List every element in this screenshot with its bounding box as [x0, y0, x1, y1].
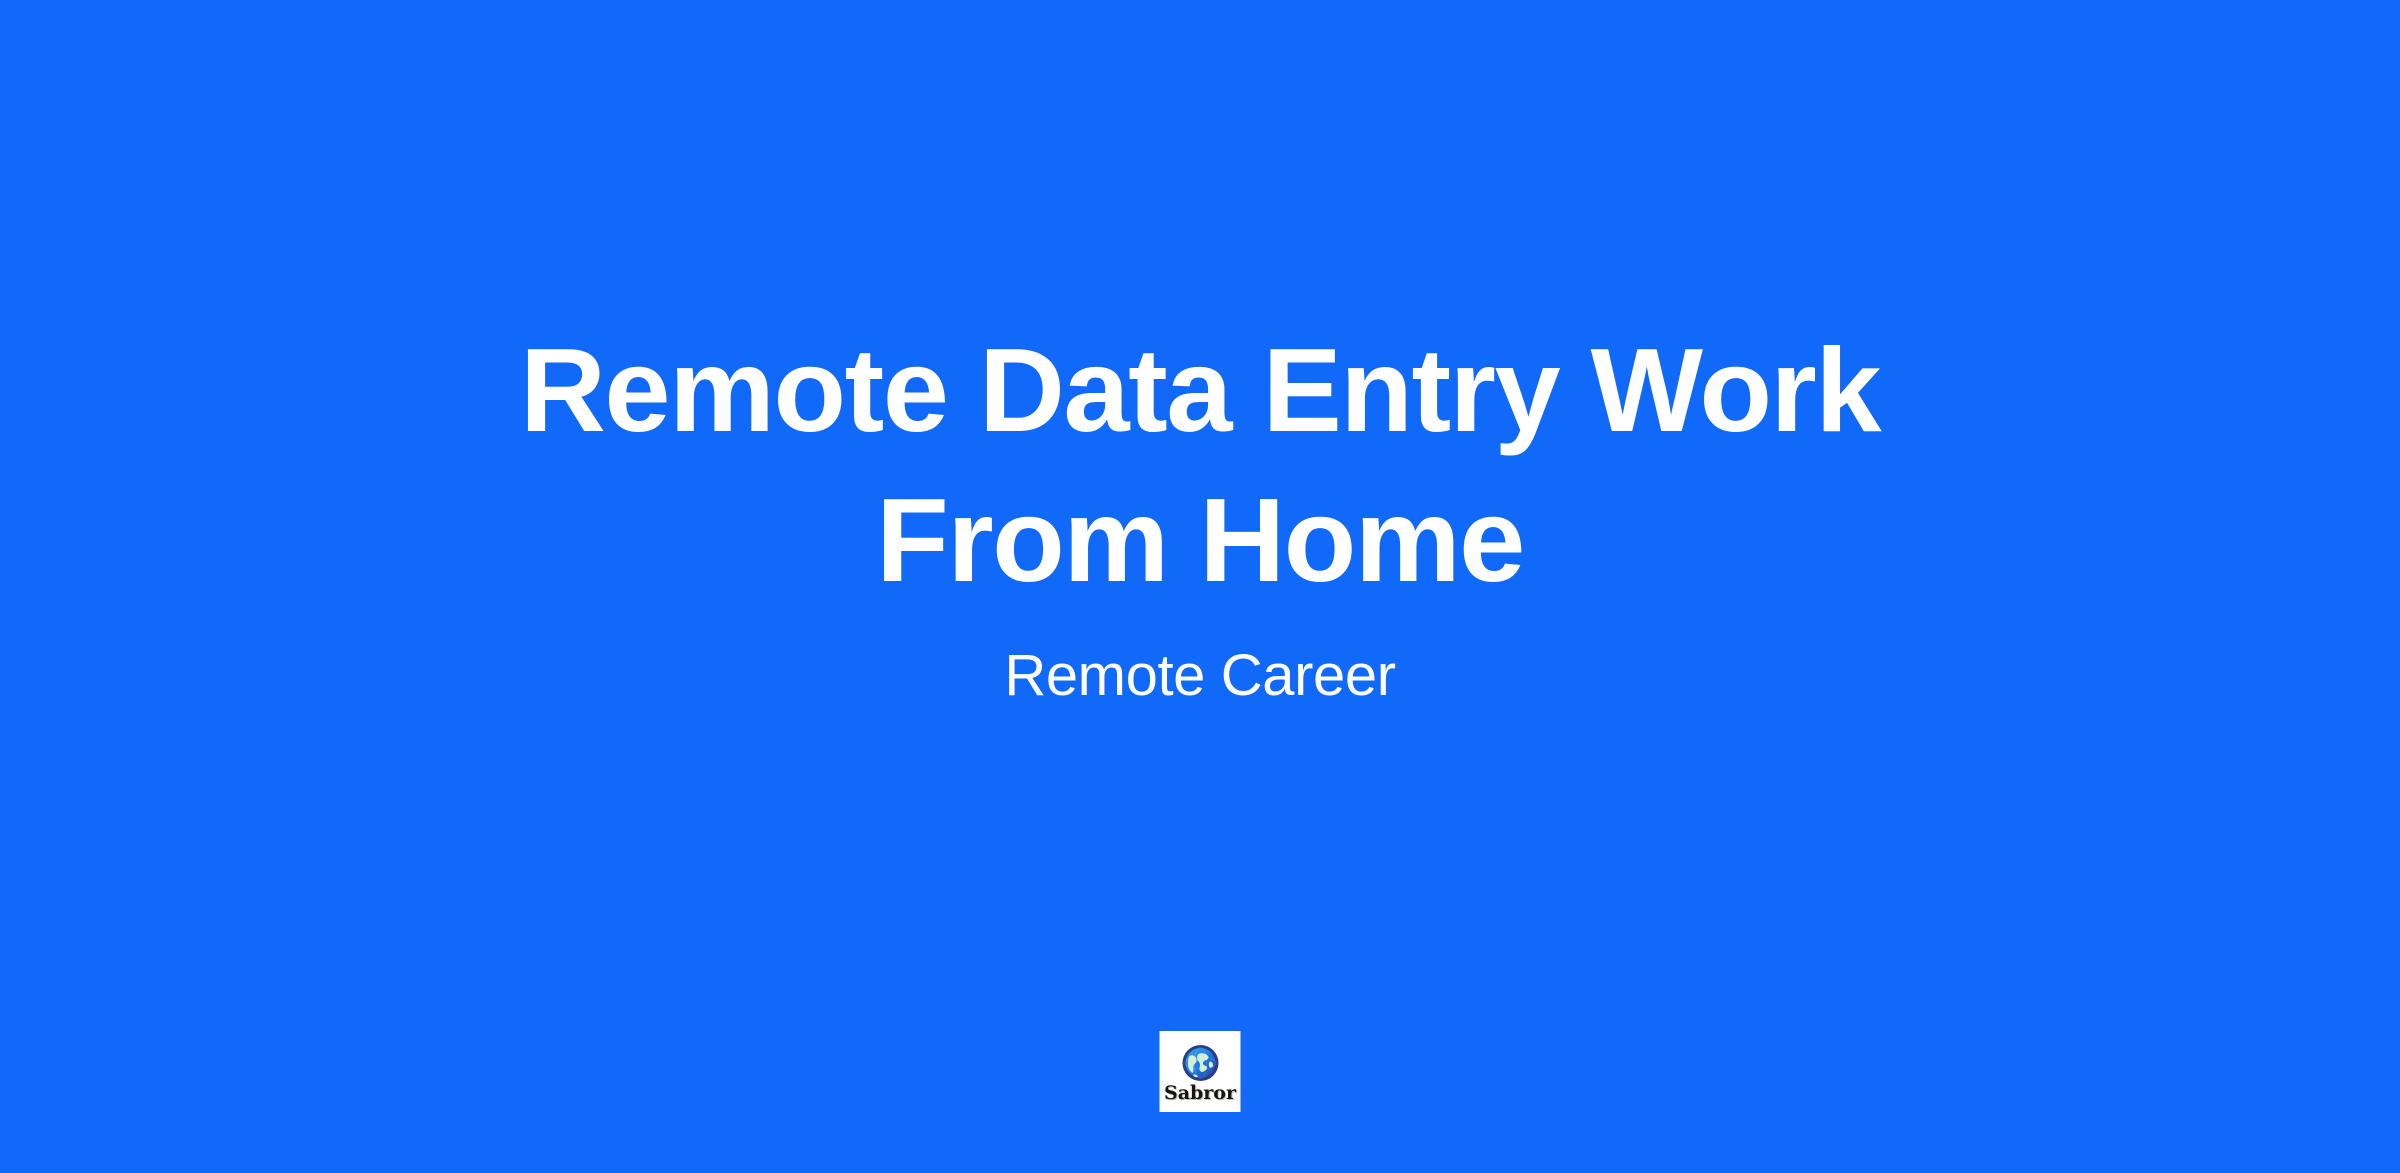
hero-banner: Remote Data Entry Work From Home Remote … [0, 0, 2400, 1173]
hero-text-block: Remote Data Entry Work From Home Remote … [360, 316, 2040, 713]
globe-icon [1180, 1043, 1220, 1083]
page-subtitle: Remote Career [360, 616, 2040, 713]
brand-logo[interactable]: Sabror [1160, 1031, 1241, 1112]
brand-wordmark: Sabror [1164, 1084, 1236, 1103]
page-title: Remote Data Entry Work From Home [360, 316, 2040, 616]
